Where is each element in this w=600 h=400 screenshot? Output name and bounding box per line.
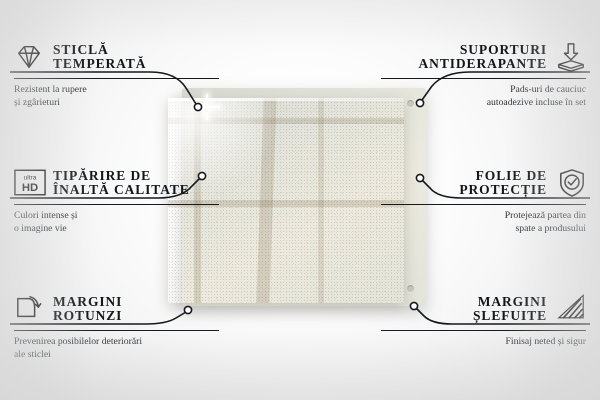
anti-slip-pad-icon — [556, 42, 586, 72]
feature-subtitle: Prevenirea posibilelor deteriorări ale s… — [14, 336, 219, 360]
feature-margini-rotunzi: MARGINI ROTUNZI Prevenirea posibilelor d… — [14, 292, 219, 361]
feature-title: TIPĂRIRE DE ÎNALTĂ CALITATE — [53, 169, 190, 198]
divider — [14, 330, 219, 331]
feature-title: FOLIE DE PROTECȚIE — [459, 169, 547, 198]
feature-subtitle: Culori intense și o imagine vie — [14, 210, 219, 234]
divider — [14, 204, 219, 205]
hatched-triangle-icon — [556, 294, 586, 324]
ultra-hd-bottom-label: HD — [22, 182, 38, 194]
divider — [381, 78, 586, 79]
ultra-hd-icon: ultra HD — [14, 168, 44, 198]
feature-folie-de-protectie: FOLIE DE PROTECȚIE Protejează partea din… — [381, 166, 586, 235]
feature-subtitle: Rezistent la rupere și zgârieturi — [14, 84, 219, 108]
divider — [381, 204, 586, 205]
feature-subtitle: Finisaj neted și sigur — [381, 336, 586, 348]
feature-title: SUPORTURI ANTIDERAPANTE — [419, 43, 547, 72]
ultra-hd-top-label: ultra — [24, 175, 37, 182]
feature-tiparire-calitate: ultra HD TIPĂRIRE DE ÎNALTĂ CALITATE Cul… — [14, 166, 219, 235]
diamond-icon — [14, 42, 44, 72]
feature-title: MARGINI ȘLEFUITE — [473, 295, 547, 324]
feature-title: STICLĂ TEMPERATĂ — [53, 43, 146, 72]
feature-suporturi-antiderapante: SUPORTURI ANTIDERAPANTE Pads-uri de cauc… — [381, 40, 586, 109]
infographic-canvas: STICLĂ TEMPERATĂ Rezistent la rupere și … — [0, 0, 600, 400]
divider — [14, 78, 219, 79]
feature-subtitle: Pads-uri de cauciuc autoadezive incluse … — [381, 84, 586, 108]
feature-title: MARGINI ROTUNZI — [53, 295, 122, 324]
shield-check-icon — [556, 168, 586, 198]
anti-slip-pad — [407, 285, 414, 292]
rounded-corner-icon — [14, 294, 44, 324]
feature-sticla-temperata: STICLĂ TEMPERATĂ Rezistent la rupere și … — [14, 40, 219, 109]
divider — [381, 330, 586, 331]
feature-margini-slefuite: MARGINI ȘLEFUITE Finisaj neted și sigur — [381, 292, 586, 349]
feature-subtitle: Protejează partea din spate a produsului — [381, 210, 586, 234]
